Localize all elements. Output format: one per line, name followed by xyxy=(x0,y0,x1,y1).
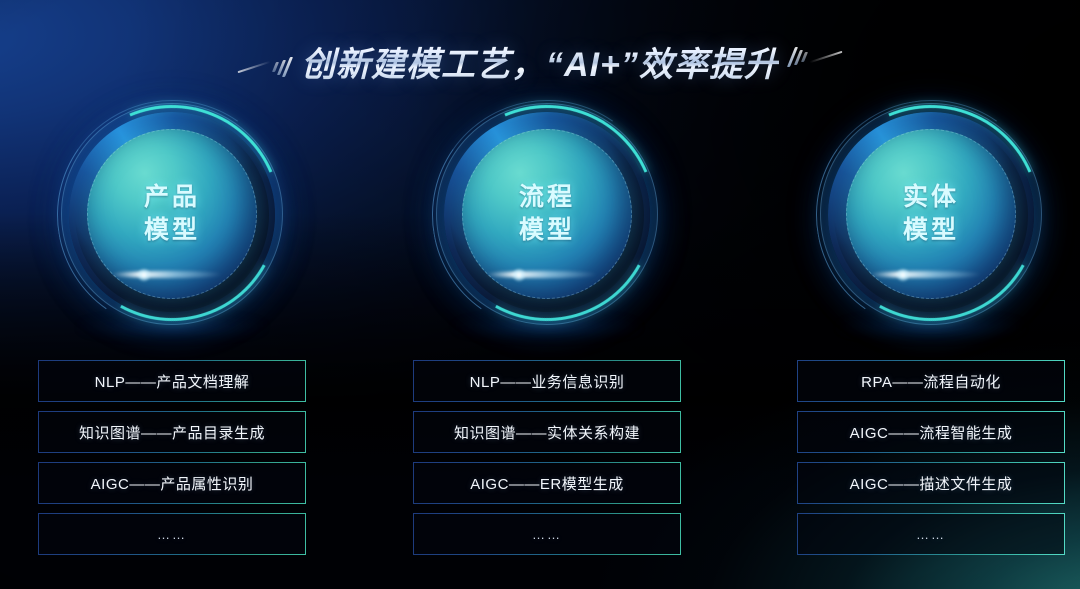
orb-label: 产品 模型 xyxy=(144,181,200,247)
orb-product-model[interactable]: 产品 模型 xyxy=(57,100,287,332)
list-item[interactable]: …… xyxy=(413,513,681,555)
item-label: …… xyxy=(157,527,187,542)
column-entity-model: 实体 模型 RPA——流程自动化 AIGC——流程智能生成 AIGC——描述文件… xyxy=(797,100,1065,564)
page-title: 创新建模工艺，“AI+”效率提升 xyxy=(301,37,779,86)
item-list-process: NLP——业务信息识别 知识图谱——实体关系构建 AIGC——ER模型生成 …… xyxy=(413,360,681,555)
orb-label: 实体 模型 xyxy=(903,181,959,247)
slide-title-row: 创新建模工艺，“AI+”效率提升 xyxy=(0,34,1080,88)
title-decoration-left-icon xyxy=(237,57,289,77)
item-label: 知识图谱——实体关系构建 xyxy=(454,422,640,443)
list-item[interactable]: …… xyxy=(38,513,306,555)
orb-light-point xyxy=(137,268,151,282)
orb-entity-model[interactable]: 实体 模型 xyxy=(816,100,1046,332)
list-item[interactable]: 知识图谱——实体关系构建 xyxy=(413,411,681,453)
orb-light-point xyxy=(512,268,526,282)
list-item[interactable]: NLP——业务信息识别 xyxy=(413,360,681,402)
slide-canvas: 创新建模工艺，“AI+”效率提升 产品 模型 xyxy=(0,0,1080,589)
orb-label-line1: 实体 xyxy=(903,181,959,214)
item-list-product: NLP——产品文档理解 知识图谱——产品目录生成 AIGC——产品属性识别 …… xyxy=(38,360,306,555)
list-item[interactable]: …… xyxy=(797,513,1065,555)
orb-light-streak xyxy=(870,271,982,278)
list-item[interactable]: RPA——流程自动化 xyxy=(797,360,1065,402)
column-process-model: 流程 模型 NLP——业务信息识别 知识图谱——实体关系构建 AIGC——ER模… xyxy=(413,100,681,564)
list-item[interactable]: NLP——产品文档理解 xyxy=(38,360,306,402)
orb-label-line2: 模型 xyxy=(903,214,959,247)
column-product-model: 产品 模型 NLP——产品文档理解 知识图谱——产品目录生成 AIGC——产品属… xyxy=(38,100,306,564)
item-label: 知识图谱——产品目录生成 xyxy=(79,422,265,443)
item-label: RPA——流程自动化 xyxy=(861,371,1001,392)
orb-light-streak xyxy=(111,271,223,278)
list-item[interactable]: 知识图谱——产品目录生成 xyxy=(38,411,306,453)
item-label: AIGC——ER模型生成 xyxy=(470,473,624,494)
orb-label-line2: 模型 xyxy=(519,214,575,247)
orb-label-line2: 模型 xyxy=(144,214,200,247)
item-label: AIGC——产品属性识别 xyxy=(91,473,254,494)
list-item[interactable]: AIGC——流程智能生成 xyxy=(797,411,1065,453)
item-label: NLP——业务信息识别 xyxy=(470,371,625,392)
orb-light-point xyxy=(896,268,910,282)
orb-label-line1: 流程 xyxy=(519,181,575,214)
orb-label-line1: 产品 xyxy=(144,181,200,214)
item-label: NLP——产品文档理解 xyxy=(95,371,250,392)
list-item[interactable]: AIGC——ER模型生成 xyxy=(413,462,681,504)
model-columns: 产品 模型 NLP——产品文档理解 知识图谱——产品目录生成 AIGC——产品属… xyxy=(0,100,1080,589)
list-item[interactable]: AIGC——描述文件生成 xyxy=(797,462,1065,504)
list-item[interactable]: AIGC——产品属性识别 xyxy=(38,462,306,504)
orb-process-model[interactable]: 流程 模型 xyxy=(432,100,662,332)
item-label: AIGC——描述文件生成 xyxy=(850,473,1013,494)
item-list-entity: RPA——流程自动化 AIGC——流程智能生成 AIGC——描述文件生成 …… xyxy=(797,360,1065,555)
item-label: …… xyxy=(916,527,946,542)
item-label: AIGC——流程智能生成 xyxy=(850,422,1013,443)
orb-label: 流程 模型 xyxy=(519,181,575,247)
orb-light-streak xyxy=(486,271,598,278)
title-decoration-right-icon xyxy=(791,47,843,67)
item-label: …… xyxy=(532,527,562,542)
